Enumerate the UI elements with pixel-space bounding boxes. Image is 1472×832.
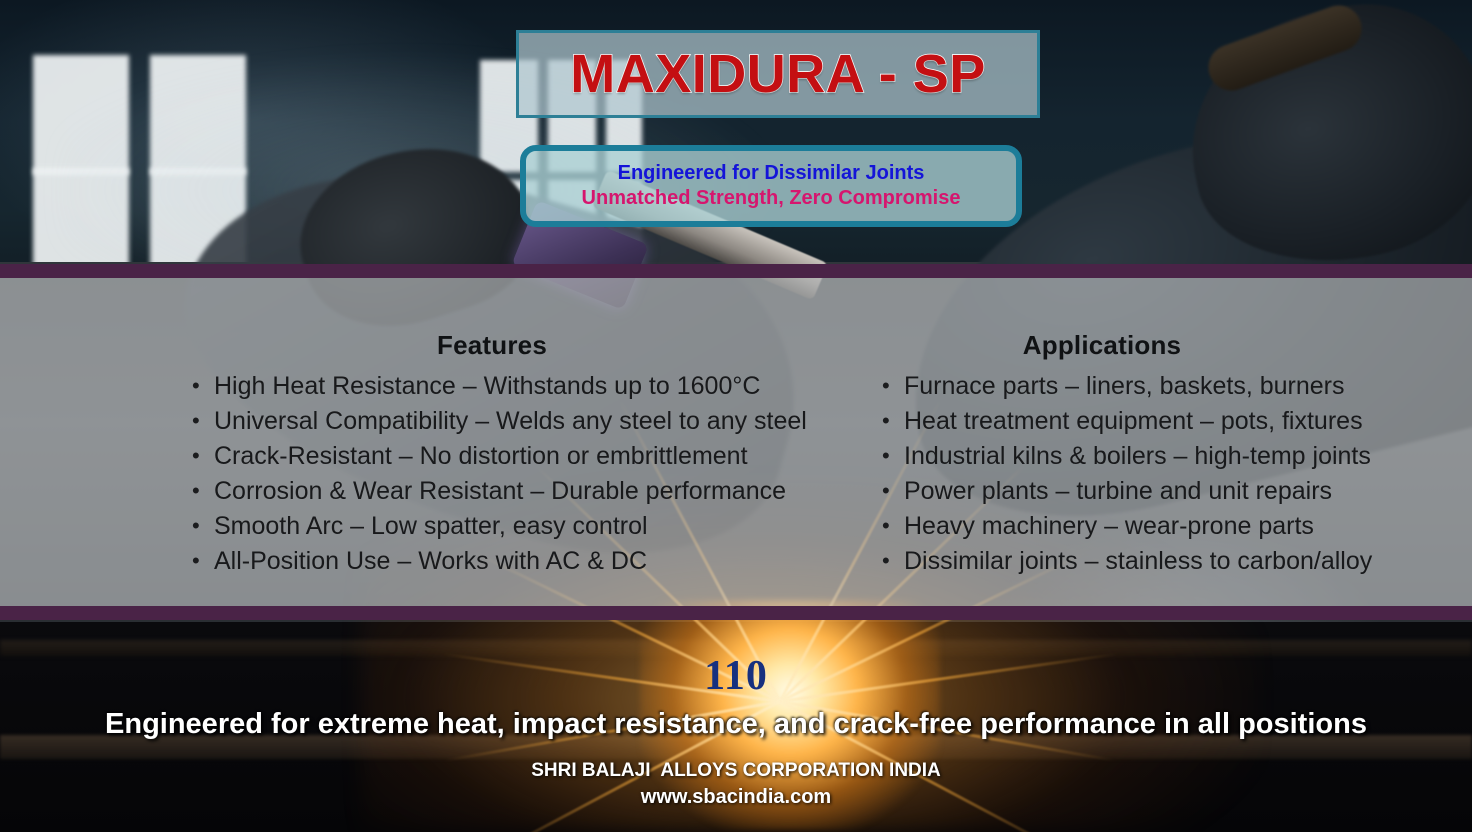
subtitle-line-2: Unmatched Strength, Zero Compromise [582,186,961,211]
applications-list: Furnace parts – liners, baskets, burners… [872,369,1452,579]
list-item: High Heat Resistance – Withstands up to … [182,369,882,404]
website-url[interactable]: www.sbacindia.com [0,786,1472,809]
product-number: 110 [0,652,1472,700]
list-item: Power plants – turbine and unit repairs [872,474,1452,509]
company-name: SHRI BALAJI ALLOYS CORPORATION INDIA [0,760,1472,782]
list-item: Dissimilar joints – stainless to carbon/… [872,544,1452,579]
features-heading: Features [182,330,882,361]
product-title-box: MAXIDURA - SP [516,30,1040,118]
tagline: Engineered for extreme heat, impact resi… [0,708,1472,741]
features-column: Features High Heat Resistance – Withstan… [182,330,882,579]
list-item: Heat treatment equipment – pots, fixture… [872,404,1452,439]
product-title: MAXIDURA - SP [570,43,986,105]
list-item: Smooth Arc – Low spatter, easy control [182,509,882,544]
list-item: Crack-Resistant – No distortion or embri… [182,439,882,474]
subtitle-line-1: Engineered for Dissimilar Joints [618,161,925,186]
divider-bottom [0,606,1472,620]
list-item: Furnace parts – liners, baskets, burners [872,369,1452,404]
list-item: Corrosion & Wear Resistant – Durable per… [182,474,882,509]
applications-column: Applications Furnace parts – liners, bas… [872,330,1452,579]
list-item: All-Position Use – Works with AC & DC [182,544,882,579]
features-list: High Heat Resistance – Withstands up to … [182,369,882,579]
product-banner: MAXIDURA - SP Engineered for Dissimilar … [0,0,1472,832]
applications-heading: Applications [872,330,1452,361]
divider-top [0,264,1472,278]
product-subtitle-box: Engineered for Dissimilar Joints Unmatch… [520,145,1022,227]
list-item: Heavy machinery – wear-prone parts [872,509,1452,544]
list-item: Industrial kilns & boilers – high-temp j… [872,439,1452,474]
list-item: Universal Compatibility – Welds any stee… [182,404,882,439]
